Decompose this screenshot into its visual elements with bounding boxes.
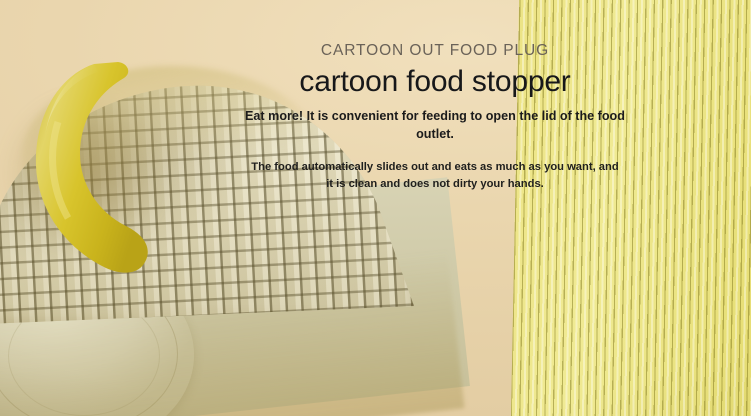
lede-text: Eat more! It is convenient for feeding t… (240, 108, 630, 144)
marketing-copy: CARTOON OUT FOOD PLUG cartoon food stopp… (205, 42, 665, 192)
silicone-food-stopper (28, 62, 168, 292)
silicone-food-stopper-shape (28, 62, 168, 292)
eyebrow-text: CARTOON OUT FOOD PLUG (205, 42, 665, 59)
product-banner: CARTOON OUT FOOD PLUG cartoon food stopp… (0, 0, 751, 416)
subcopy-text: The food automatically slides out and ea… (249, 159, 621, 191)
page-title: cartoon food stopper (205, 65, 665, 99)
